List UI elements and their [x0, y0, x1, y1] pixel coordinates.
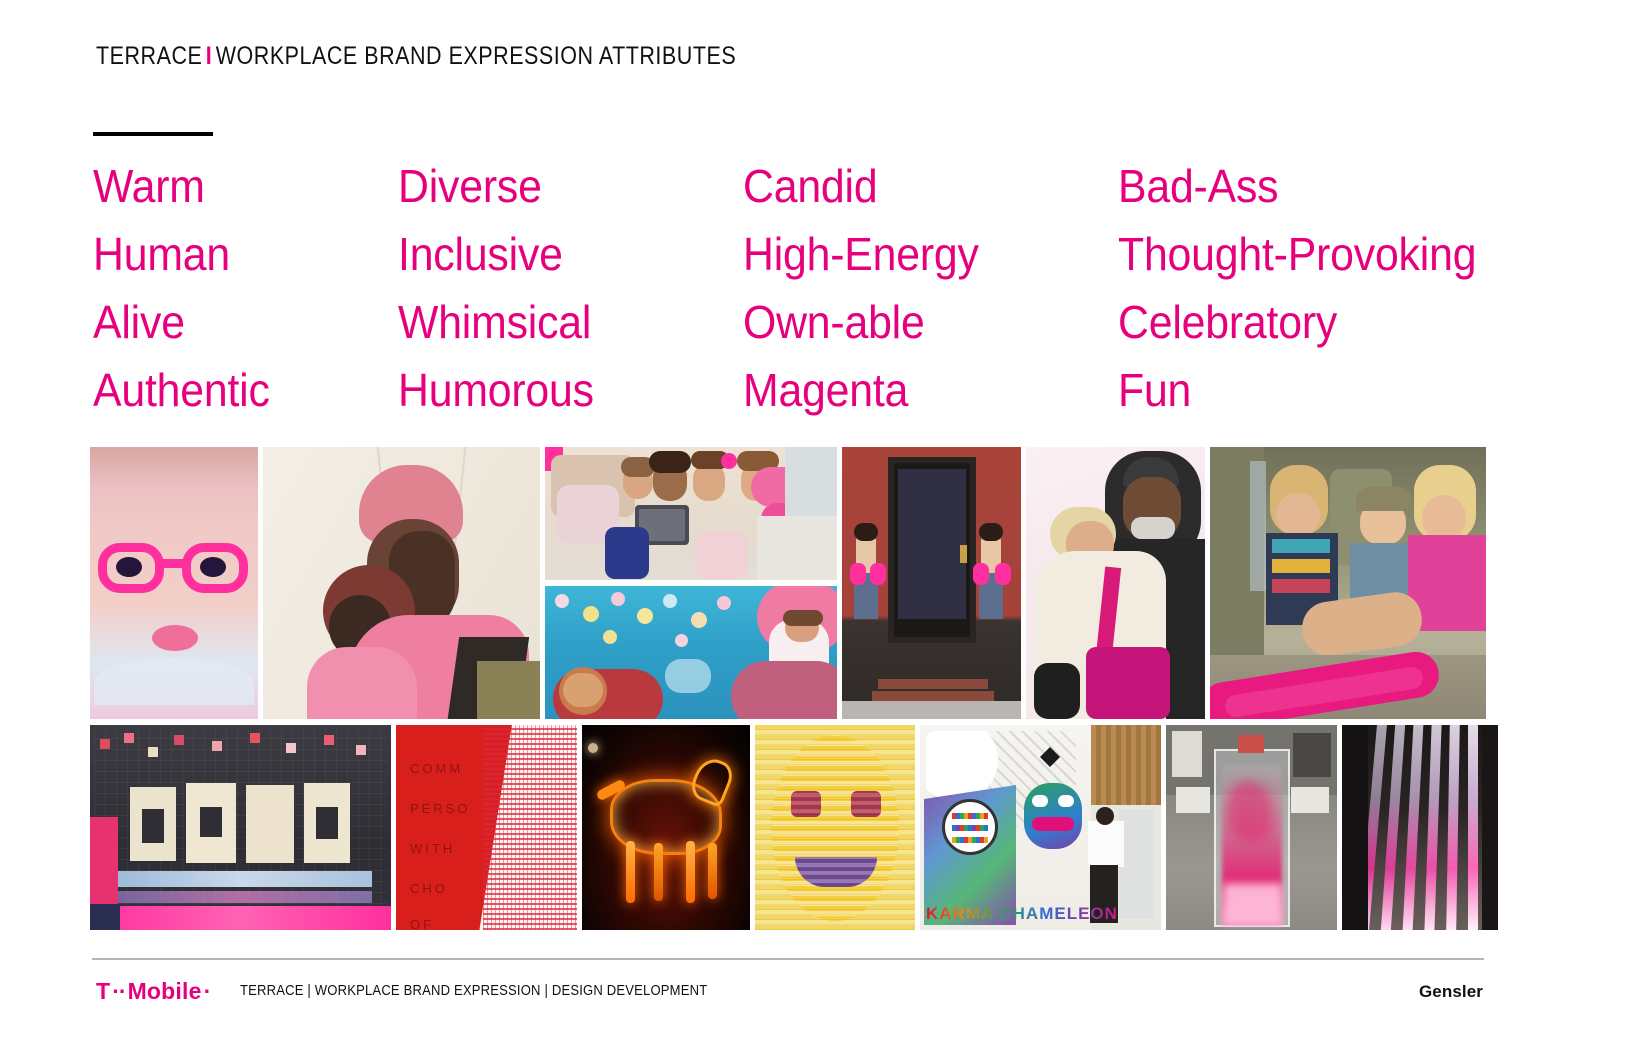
attribute-column-1: Warm Human Alive Authentic: [93, 152, 398, 424]
mosaic-image-couple-embrace-pink-bag: [1026, 447, 1205, 719]
mosaic-image-karma-chameleon-mural: KARMA CHAMELEON: [920, 725, 1161, 930]
attribute-word: Inclusive: [398, 220, 719, 288]
attribute-columns: Warm Human Alive Authentic Diverse Inclu…: [93, 152, 1543, 420]
attribute-column-4: Bad-Ass Thought-Provoking Celebratory Fu…: [1118, 152, 1543, 424]
mosaic-image-neon-horse-sculpture: [582, 725, 750, 930]
attribute-word: High-Energy: [743, 220, 1092, 288]
attribute-word: Celebratory: [1118, 288, 1513, 356]
attribute-word: Whimsical: [398, 288, 719, 356]
mosaic-image-red-typography-poster: COMM PERSO WITH CHO OF: [396, 725, 577, 930]
attribute-word: Humorous: [398, 356, 719, 424]
attribute-word: Candid: [743, 152, 1092, 220]
mosaic-image-pixel-wall-design: [90, 725, 391, 930]
mosaic-stack-center: [545, 447, 837, 719]
tmobile-logo: T··Mobile·: [96, 978, 210, 1005]
attribute-word: Warm: [93, 152, 377, 220]
image-mosaic: COMM PERSO WITH CHO OF: [90, 447, 1486, 930]
mosaic-image-boys-pink-boxing-gloves: [842, 447, 1021, 719]
attribute-word: Magenta: [743, 356, 1092, 424]
attribute-word: Authentic: [93, 356, 377, 424]
attribute-word: Fun: [1118, 356, 1513, 424]
page-title: TERRACEIWORKPLACE BRAND EXPRESSION ATTRI…: [96, 42, 736, 71]
attribute-word: Thought-Provoking: [1118, 220, 1513, 288]
mosaic-image-girls-bed-tablet: [545, 447, 837, 580]
header-rule: [93, 132, 213, 136]
mosaic-image-pink-smoke-vitrine: [1166, 725, 1337, 930]
tmobile-logo-dots: ··: [112, 978, 125, 1005]
mosaic-image-pool-float-friends: [545, 586, 837, 719]
tmobile-logo-trailing-dot: ·: [204, 978, 211, 1005]
mosaic-image-magenta-gradient-fins: [1342, 725, 1498, 930]
mosaic-image-couple-pink-beanie: [263, 447, 540, 719]
footer-divider: [92, 958, 1484, 960]
mosaic-bottom-row: COMM PERSO WITH CHO OF: [90, 725, 1486, 930]
mosaic-image-emoji-mosaic-face: [755, 725, 915, 930]
attribute-column-2: Diverse Inclusive Whimsical Humorous: [398, 152, 743, 424]
attribute-word: Own-able: [743, 288, 1092, 356]
tmobile-logo-word: Mobile: [128, 978, 202, 1005]
attribute-word: Diverse: [398, 152, 719, 220]
mosaic-image-baby-pink-glasses: [90, 447, 258, 719]
page-title-left: TERRACE: [96, 42, 202, 70]
tmobile-logo-t: T: [96, 978, 110, 1005]
attribute-word: Bad-Ass: [1118, 152, 1513, 220]
attribute-word: Human: [93, 220, 377, 288]
page-title-right: WORKPLACE BRAND EXPRESSION ATTRIBUTES: [216, 42, 736, 70]
slide-page: TERRACEIWORKPLACE BRAND EXPRESSION ATTRI…: [0, 0, 1633, 1056]
mosaic-top-row: [90, 447, 1486, 719]
gensler-logo: Gensler: [1419, 982, 1483, 1002]
attribute-column-3: Candid High-Energy Own-able Magenta: [743, 152, 1118, 424]
mosaic-image-kids-van-skateboard: [1210, 447, 1486, 719]
page-title-separator: I: [202, 42, 215, 70]
footer-caption: TERRACE | WORKPLACE BRAND EXPRESSION | D…: [240, 983, 707, 999]
attribute-word: Alive: [93, 288, 377, 356]
